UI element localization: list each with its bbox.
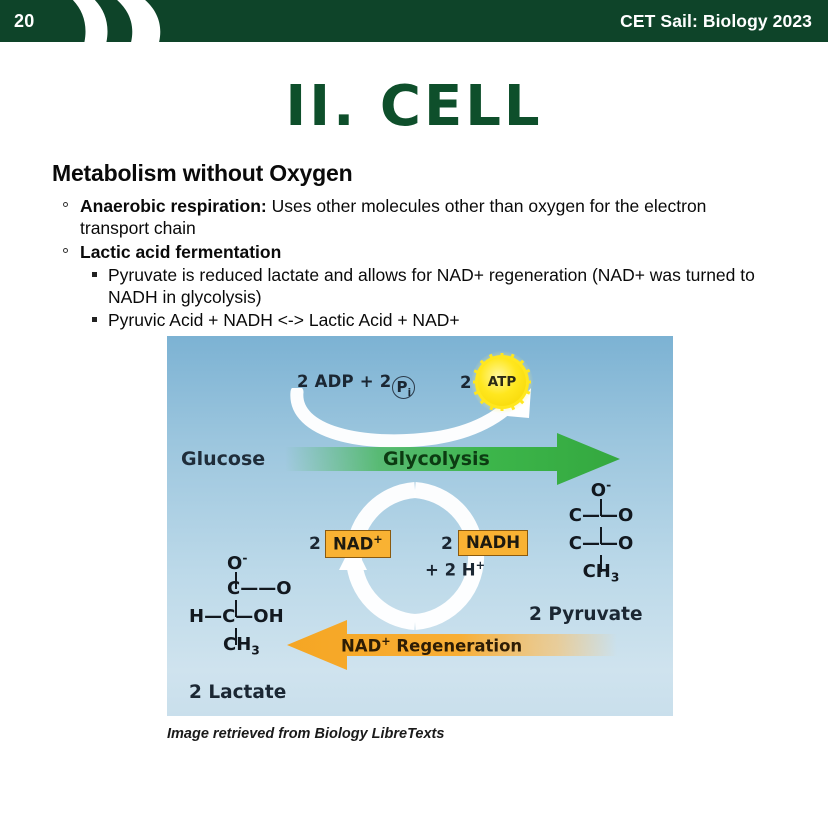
nadh-count-label: 2: [441, 534, 453, 554]
pyruvate-structure: O- C——O C——O CH3: [551, 479, 651, 591]
bullet-body-text: Pyruvic Acid + NADH <-> Lactic Acid + NA…: [108, 310, 460, 330]
hollow-circle-bullet-icon: [63, 248, 68, 253]
atp-sun-icon: ATP: [478, 358, 526, 406]
bullet-anaerobic-respiration: Anaerobic respiration: Uses other molecu…: [52, 195, 772, 239]
slide-title: II. CELL: [0, 74, 828, 139]
header-swoosh-decoration: [58, 0, 178, 42]
figure-caption: Image retrieved from Biology LibreTexts: [167, 726, 444, 742]
square-bullet-icon: [92, 317, 97, 322]
bullet-lead-label: Anaerobic respiration:: [80, 196, 267, 216]
bullet-lactic-acid-fermentation: Lactic acid fermentation: [52, 241, 772, 263]
glucose-label: Glucose: [181, 448, 265, 470]
atp-label: ATP: [478, 358, 526, 406]
fermentation-diagram: 2 ADP + 2Pi 2: [167, 336, 673, 716]
hollow-circle-bullet-icon: [63, 202, 68, 207]
nad-regeneration-label: NAD+ Regeneration: [341, 635, 522, 656]
square-bullet-icon: [92, 272, 97, 277]
hydrogen-ion-label: + 2 H+: [425, 559, 485, 580]
atp-count-label: 2: [460, 373, 471, 392]
slide-header: 20 CET Sail: Biology 2023: [0, 0, 828, 42]
section-heading: Metabolism without Oxygen: [52, 160, 772, 187]
bullet-lead-label: Lactic acid fermentation: [80, 242, 281, 262]
nadh-box: NADH: [458, 530, 528, 556]
nad-plus-box: NAD+: [325, 530, 391, 558]
glycolysis-label: Glycolysis: [383, 448, 490, 470]
bullet-body-text: Pyruvate is reduced lactate and allows f…: [108, 265, 755, 307]
nad-plus-count-label: 2: [309, 534, 321, 554]
page-number: 20: [14, 0, 35, 42]
header-course-title: CET Sail: Biology 2023: [620, 0, 812, 42]
slide-body: Metabolism without Oxygen Anaerobic resp…: [52, 160, 772, 331]
lactate-label: 2 Lactate: [189, 682, 286, 703]
bullet-pyruvate-reduced: Pyruvate is reduced lactate and allows f…: [52, 264, 772, 308]
bullet-pyruvic-acid-equation: Pyruvic Acid + NADH <-> Lactic Acid + NA…: [52, 309, 772, 331]
